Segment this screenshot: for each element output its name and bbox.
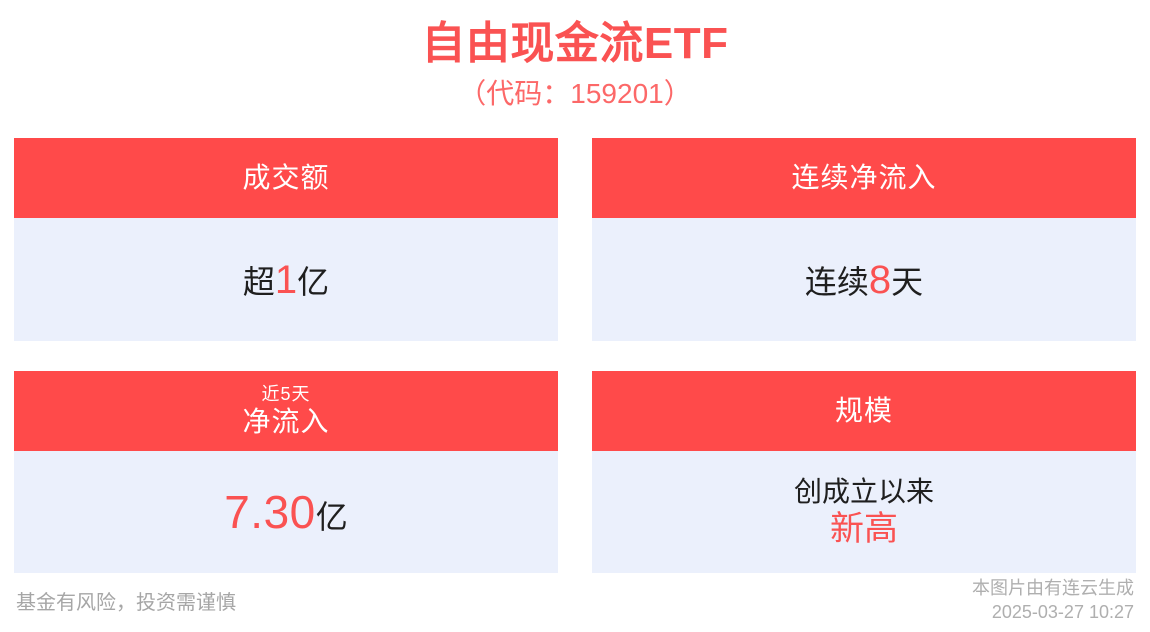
value-number: 1 xyxy=(275,258,297,302)
value-unit: 亿 xyxy=(297,262,329,302)
card-header-label: 规模 xyxy=(835,394,893,428)
stat-card-grid: 成交额 超 1 亿 连续净流入 连续 8 天 近5天 净流入 xyxy=(14,138,1136,573)
value-number: 7.30 xyxy=(224,487,316,537)
card-header-turnover: 成交额 xyxy=(14,138,558,218)
value-prefix: 超 xyxy=(243,262,275,302)
card-header-label: 成交额 xyxy=(242,161,329,195)
credit-source: 本图片由有连云生成 xyxy=(972,576,1134,600)
page-footer: 基金有风险，投资需谨慎 本图片由有连云生成 2025-03-27 10:27 xyxy=(0,576,1150,624)
card-value: 连续 8 天 xyxy=(805,258,923,302)
fund-code-subtitle: （代码：159201） xyxy=(0,74,1150,114)
card-body-turnover: 超 1 亿 xyxy=(14,218,558,341)
image-credit: 本图片由有连云生成 2025-03-27 10:27 xyxy=(972,576,1134,624)
card-header-label: 净流入 xyxy=(242,405,329,439)
stat-card-scale: 规模 创成立以来 新高 xyxy=(592,371,1136,573)
value-prefix: 连续 xyxy=(805,262,869,302)
value-number: 8 xyxy=(869,258,891,302)
stat-card-consecutive-net-inflow: 连续净流入 连续 8 天 xyxy=(592,138,1136,341)
card-value: 超 1 亿 xyxy=(243,258,329,302)
credit-timestamp: 2025-03-27 10:27 xyxy=(972,600,1134,624)
card-header-five-day-net-inflow: 近5天 净流入 xyxy=(14,371,558,451)
value-unit: 亿 xyxy=(316,497,348,537)
page-header: 自由现金流ETF （代码：159201） xyxy=(0,0,1150,114)
risk-disclaimer: 基金有风险，投资需谨慎 xyxy=(16,590,236,624)
page-title: 自由现金流ETF xyxy=(0,16,1150,72)
card-header-period-label: 近5天 xyxy=(261,383,310,405)
card-value: 7.30 亿 xyxy=(224,487,348,537)
card-body-consecutive-net-inflow: 连续 8 天 xyxy=(592,218,1136,341)
card-header-label: 连续净流入 xyxy=(791,161,936,195)
stat-card-turnover: 成交额 超 1 亿 xyxy=(14,138,558,341)
card-header-scale: 规模 xyxy=(592,371,1136,451)
value-qualifier: 创成立以来 xyxy=(794,475,934,509)
card-body-scale: 创成立以来 新高 xyxy=(592,451,1136,573)
card-body-five-day-net-inflow: 7.30 亿 xyxy=(14,451,558,573)
stat-card-five-day-net-inflow: 近5天 净流入 7.30 亿 xyxy=(14,371,558,573)
card-header-consecutive-net-inflow: 连续净流入 xyxy=(592,138,1136,218)
value-unit: 天 xyxy=(891,262,923,302)
value-highlight: 新高 xyxy=(830,509,898,549)
